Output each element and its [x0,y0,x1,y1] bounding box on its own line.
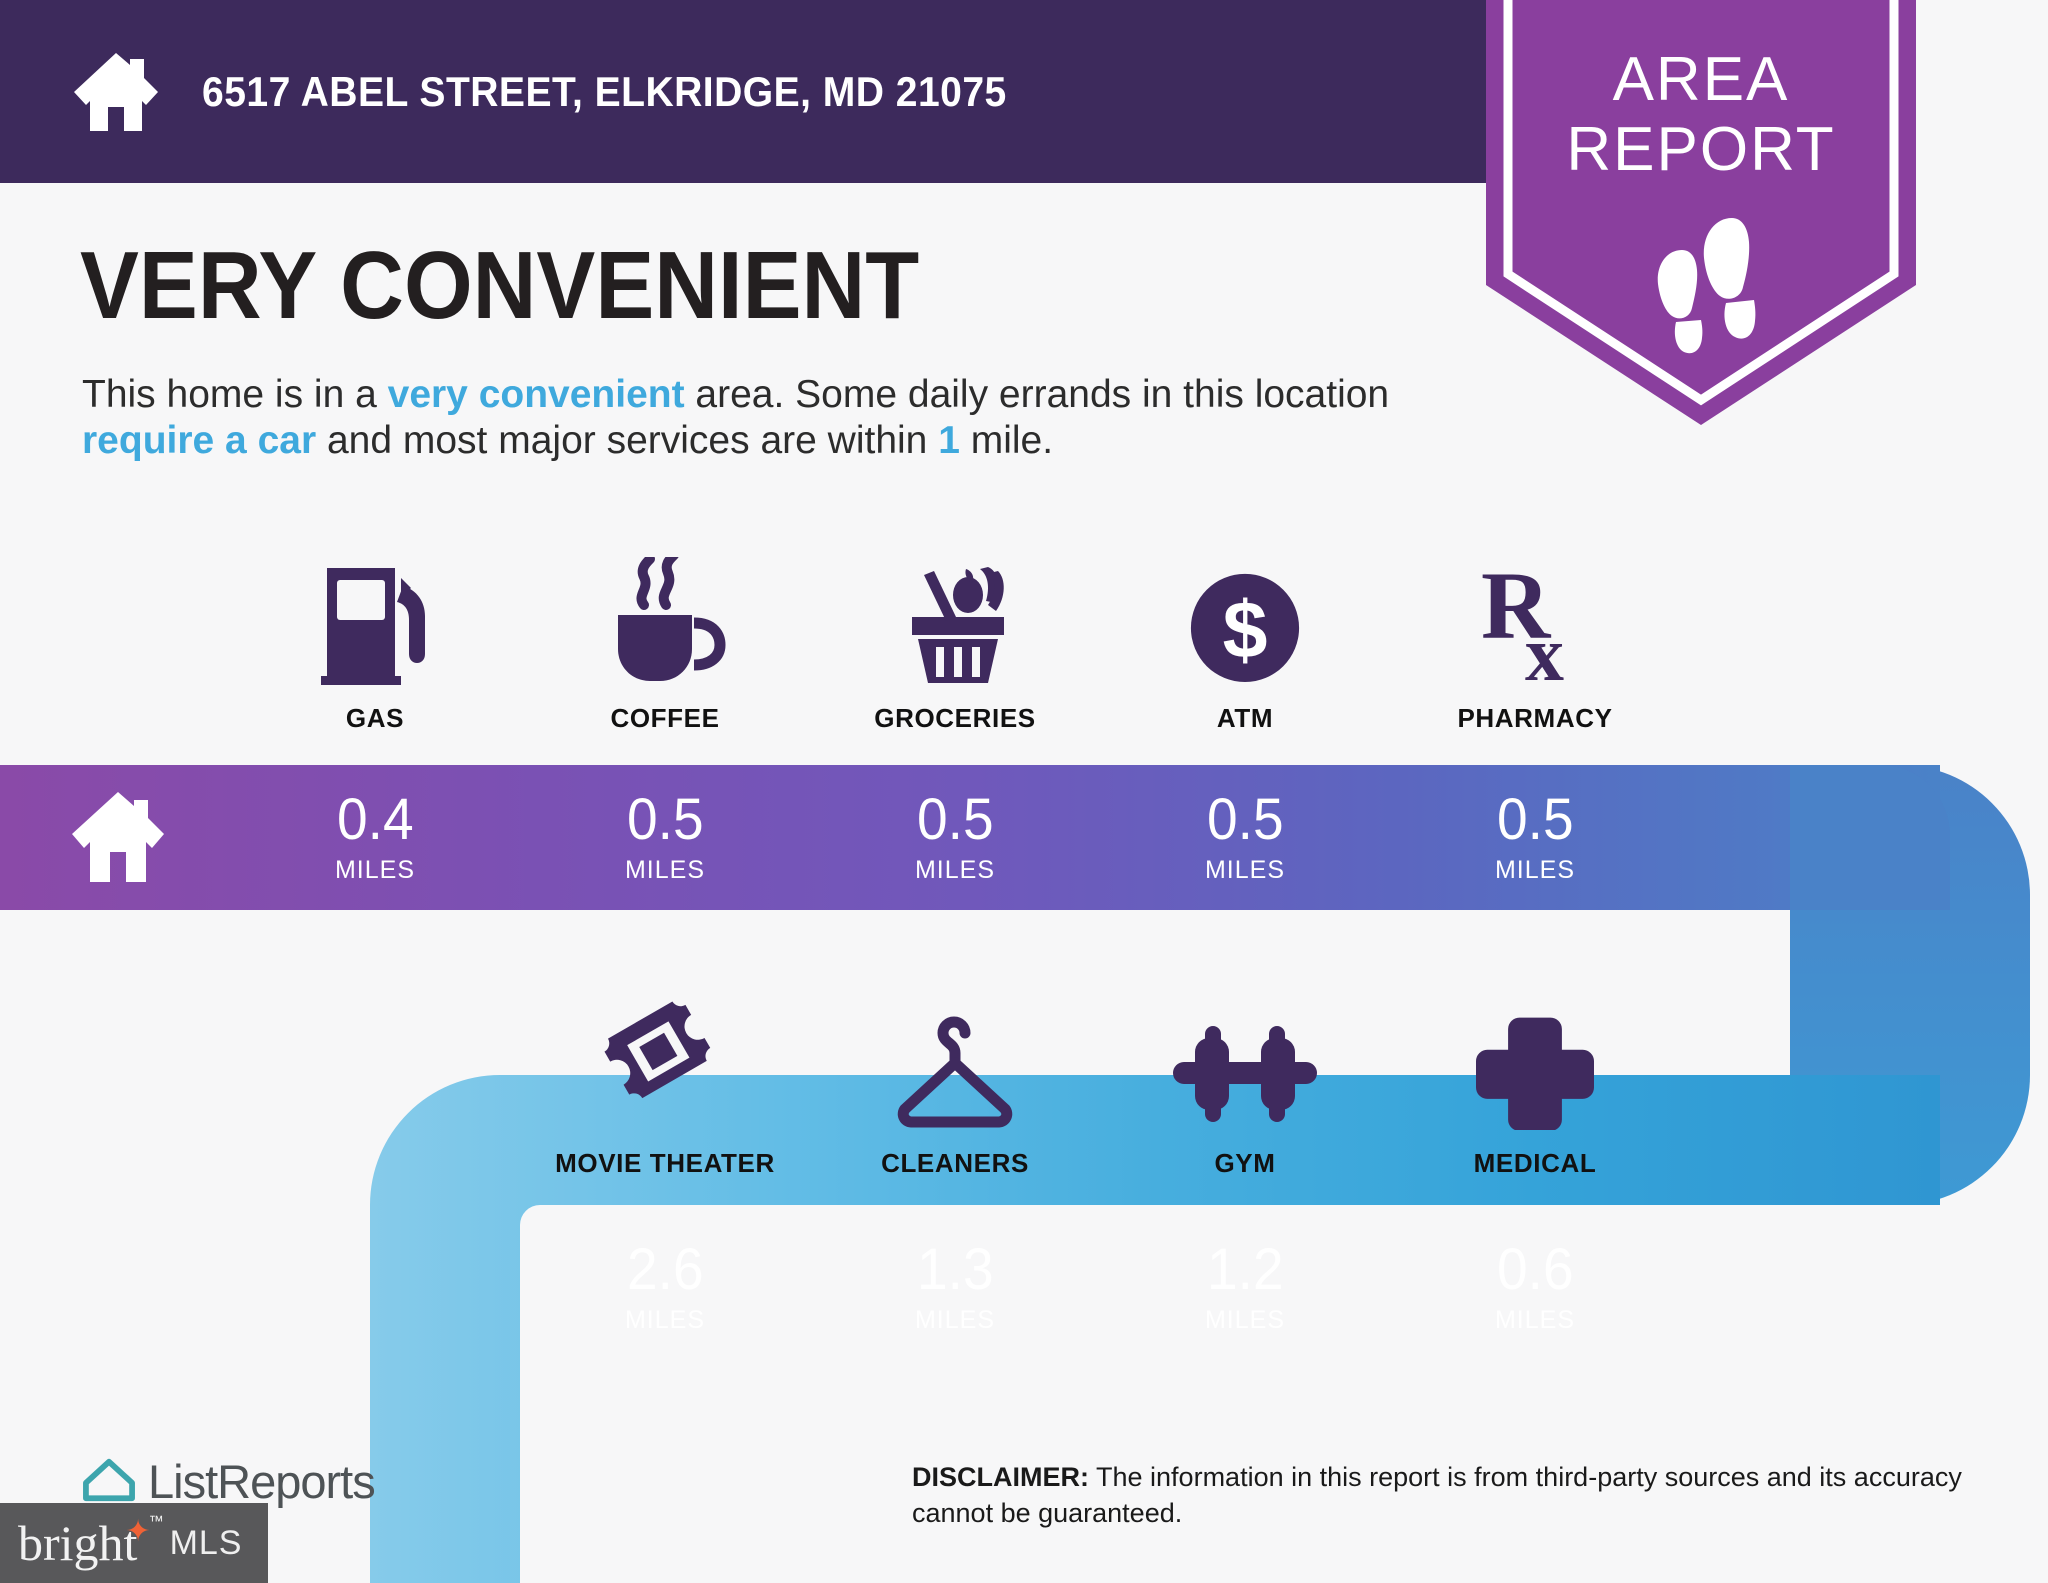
atm-dollar-icon: $ [1186,545,1304,685]
pharmacy-rx-icon: R x [1475,545,1595,685]
star-icon: ✦ [125,1514,150,1549]
distance-unit: MILES [625,856,705,885]
distance-value: 0.5 [1497,791,1574,849]
distance-value: 0.6 [1497,1241,1574,1299]
distance-unit: MILES [1205,856,1285,885]
dumbbell-icon [1165,990,1325,1130]
distance-cell-gas: 0.4 MILES [230,765,520,910]
distance-value: 1.2 [1207,1241,1284,1299]
desc-highlight3: 1 [938,419,960,462]
desc-highlight2: require a car [82,419,316,462]
grocery-basket-icon [888,545,1023,685]
desc-part4: mile. [960,419,1053,462]
distance-value: 0.5 [917,791,994,849]
distance-value: 1.3 [917,1241,994,1299]
distance-unit: MILES [915,856,995,885]
distance-value: 0.5 [1207,791,1284,849]
disclaimer-label: DISCLAIMER: [912,1462,1089,1492]
amenity-label: PHARMACY [1457,703,1612,734]
header-bar: 6517 ABEL STREET, ELKRIDGE, MD 21075 [0,0,1486,183]
distance-cell-cleaners: 1.3 MILES [810,1215,1100,1360]
amenity-coffee: COFFEE [520,545,810,734]
disclaimer: DISCLAIMER: The information in this repo… [912,1460,1982,1531]
distance-unit: MILES [1495,1306,1575,1335]
amenities-row-1-icons: GAS COFFEE [230,545,1680,734]
bright-wordmark: bright [18,1518,137,1568]
amenities-row-2-icons: MOVIE THEATER CLEANERS GY [520,990,1680,1179]
mls-wordmark: MLS [170,1524,243,1563]
amenity-atm: $ ATM [1100,545,1390,734]
amenity-medical: MEDICAL [1390,990,1680,1179]
amenity-pharmacy: R x PHARMACY [1390,545,1680,734]
amenity-label: COFFEE [610,703,719,734]
desc-part1: This home is in a [82,373,388,416]
distance-cell-groceries: 0.5 MILES [810,765,1100,910]
distance-unit: MILES [625,1306,705,1335]
amenity-label: MOVIE THEATER [555,1148,775,1179]
distance-unit: MILES [335,856,415,885]
trademark-symbol: ™ [149,1513,164,1530]
amenity-gas: GAS [230,545,520,734]
distance-value: 0.5 [627,791,704,849]
area-report-page: 6517 ABEL STREET, ELKRIDGE, MD 21075 ARE… [0,0,2048,1583]
area-report-badge: AREA REPORT [1486,0,1916,425]
distance-cell-medical: 0.6 MILES [1390,1215,1680,1360]
amenity-groceries: GROCERIES [810,545,1100,734]
home-icon [72,51,160,133]
coffee-cup-icon [600,545,730,685]
amenity-label: GROCERIES [874,703,1035,734]
amenity-gym: GYM [1100,990,1390,1179]
amenity-label: ATM [1217,703,1273,734]
svg-text:x: x [1525,610,1564,685]
amenity-cleaners: CLEANERS [810,990,1100,1179]
amenity-movie-theater: MOVIE THEATER [520,990,810,1179]
distance-cell-pharmacy: 0.5 MILES [1390,765,1680,910]
medical-cross-icon [1476,990,1594,1130]
distance-value: 0.4 [337,791,414,849]
desc-part2: area. Some daily errands in this locatio… [685,373,1390,416]
desc-part3: and most major services are within [316,419,938,462]
house-outline-icon [80,1454,138,1509]
movie-ticket-icon [603,990,727,1130]
amenity-label: MEDICAL [1474,1148,1597,1179]
distance-cell-gym: 1.2 MILES [1100,1215,1390,1360]
distances-row-1: 0.4 MILES 0.5 MILES 0.5 MILES 0.5 MILES … [230,765,1680,910]
amenity-label: GAS [346,703,404,734]
badge-line2: REPORT [1566,115,1835,184]
distance-value: 2.6 [627,1241,704,1299]
distance-unit: MILES [1205,1306,1285,1335]
listreports-wordmark: ListReports [148,1454,375,1509]
distance-cell-coffee: 0.5 MILES [520,765,810,910]
distance-cell-atm: 0.5 MILES [1100,765,1390,910]
property-address: 6517 ABEL STREET, ELKRIDGE, MD 21075 [202,68,1007,116]
home-marker-icon [70,790,166,884]
desc-highlight1: very convenient [388,373,685,416]
amenity-label: GYM [1214,1148,1275,1179]
distance-unit: MILES [1495,856,1575,885]
distance-cell-movie-theater: 2.6 MILES [520,1215,810,1360]
gas-pump-icon [315,545,435,685]
distances-row-2: 2.6 MILES 1.3 MILES 1.2 MILES 0.6 MILES [520,1215,1680,1360]
page-title: VERY CONVENIENT [80,238,919,334]
bright-mls-logo: bright ✦ ™ MLS [0,1503,268,1583]
description-text: This home is in a very convenient area. … [82,372,1482,464]
badge-line1: AREA [1613,45,1790,114]
listreports-logo: ListReports [80,1454,375,1509]
clothes-hanger-icon [885,990,1025,1130]
svg-text:$: $ [1223,585,1268,675]
amenity-label: CLEANERS [881,1148,1029,1179]
distance-unit: MILES [915,1306,995,1335]
